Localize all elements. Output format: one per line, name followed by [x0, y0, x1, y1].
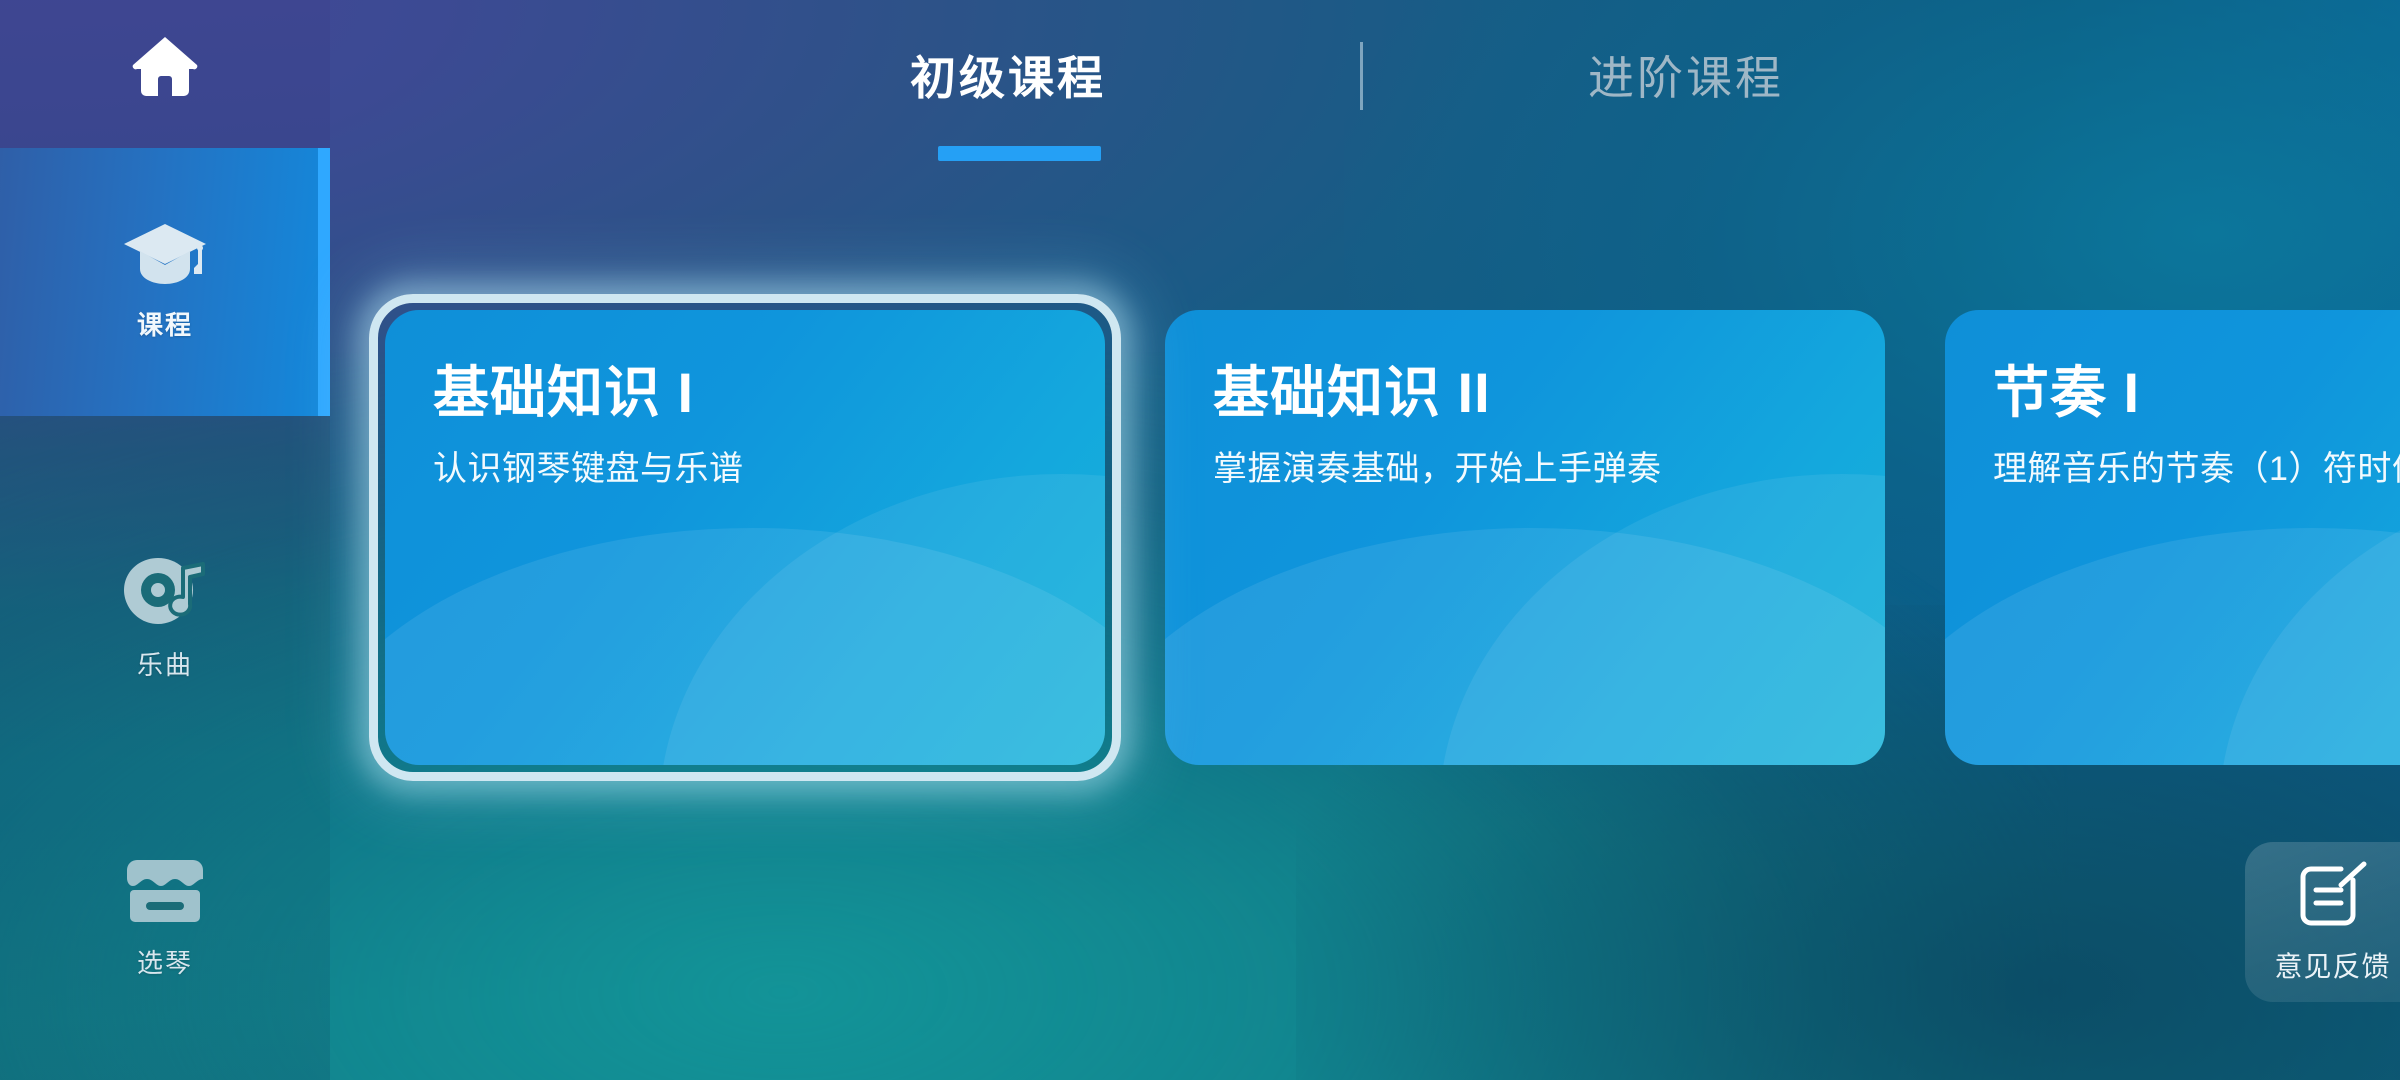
course-card-list: 基础知识 I 认识钢琴键盘与乐谱 基础知识 II 掌握演奏基础，开始上手弹奏 节…: [0, 0, 2400, 1080]
card-selection-glow: [369, 294, 1121, 781]
course-card-rhythm-1[interactable]: 节奏 I 理解音乐的节奏（1）符时值关系: [1945, 310, 2400, 765]
course-card-basics-2[interactable]: 基础知识 II 掌握演奏基础，开始上手弹奏: [1165, 310, 1885, 765]
course-screen: 课程 乐曲 选琴: [0, 0, 2400, 1080]
card-selection-border: [369, 294, 1121, 781]
card-text-block: 节奏 I 理解音乐的节奏（1）符时值关系: [1993, 362, 2400, 493]
card-title: 节奏 I: [1993, 362, 2400, 424]
card-title: 基础知识 II: [1213, 362, 1845, 424]
feedback-edit-note-icon: [2296, 860, 2370, 937]
card-subtitle: 掌握演奏基础，开始上手弹奏: [1213, 446, 1845, 493]
card-text-block: 基础知识 II 掌握演奏基础，开始上手弹奏: [1213, 362, 1845, 493]
feedback-label: 意见反馈: [2274, 945, 2390, 985]
feedback-button[interactable]: 意见反馈: [2245, 842, 2400, 1002]
card-subtitle: 理解音乐的节奏（1）符时值关系: [1993, 446, 2400, 493]
